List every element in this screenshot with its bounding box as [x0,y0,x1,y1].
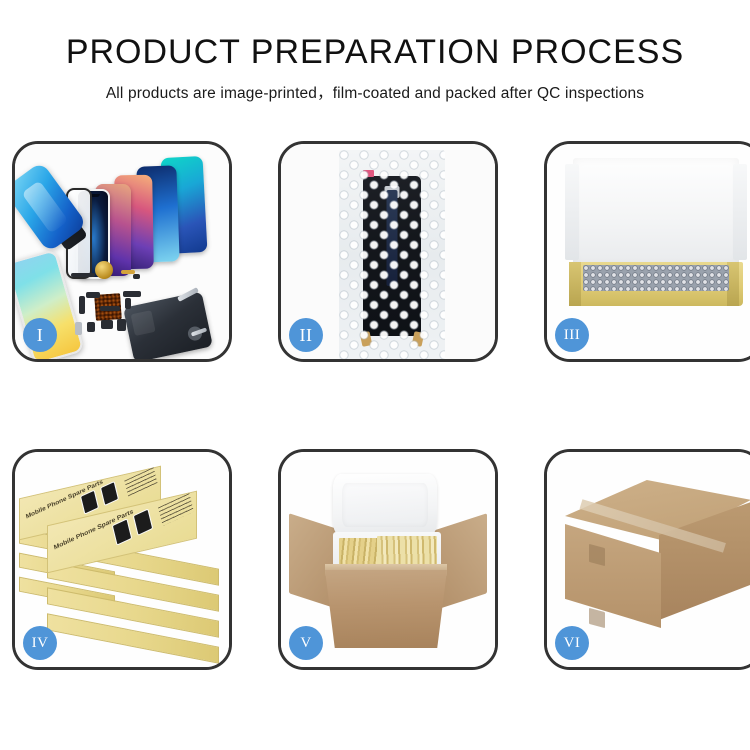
process-step-panel-5: V [278,449,498,670]
retail-box-thumb-front-2 [133,508,154,535]
product-preparation-process-page: PRODUCT PREPARATION PROCESS All products… [0,0,750,750]
bubble-wrapped-contents [583,265,729,291]
process-step-panel-3: III [544,141,750,362]
step-badge-3: III [555,318,589,352]
process-step-panel-6: VI [544,449,750,670]
step-badge-6: VI [555,626,589,660]
spare-part-button [87,322,95,332]
page-subtitle: All products are image-printed，film-coat… [0,81,750,103]
carton-body [325,570,447,648]
process-step-panel-1: I [12,141,232,362]
page-header: PRODUCT PREPARATION PROCESS All products… [0,0,750,103]
spare-part-chip-1 [133,274,140,279]
step-badge-4: IV [23,626,57,660]
spare-part-strip-1 [71,273,95,277]
step-badge-2: II [289,318,323,352]
step-badge-1: I [23,318,57,352]
spare-part-flex-2 [125,298,131,309]
retail-box-spec-lines-rear [124,467,157,497]
spare-part-module [117,319,126,331]
foam-sheet-lid [573,158,739,266]
spare-part-connector-1 [86,292,100,298]
page-title: PRODUCT PREPARATION PROCESS [0,33,750,72]
bubble-wrap-bag [339,150,445,359]
process-step-panel-4: Mobile Phone Spare Parts Mobile Phone Sp… [12,449,232,670]
bubble-texture [339,150,445,359]
spare-part-flex-1 [79,296,85,314]
spare-part-connector-2 [123,291,141,297]
retail-box-spec-lines-front [158,493,194,526]
spare-part-sim-tray [75,322,82,335]
foam-box-open-lid [333,474,437,536]
speaker-coil-icon [95,261,113,279]
process-step-panel-2: II [278,141,498,362]
box-side-flap-left [569,262,581,306]
process-step-grid: I II [12,141,738,670]
spare-part-camera [101,320,113,329]
step-badge-5: V [289,626,323,660]
spare-part-strip-2 [100,306,120,311]
